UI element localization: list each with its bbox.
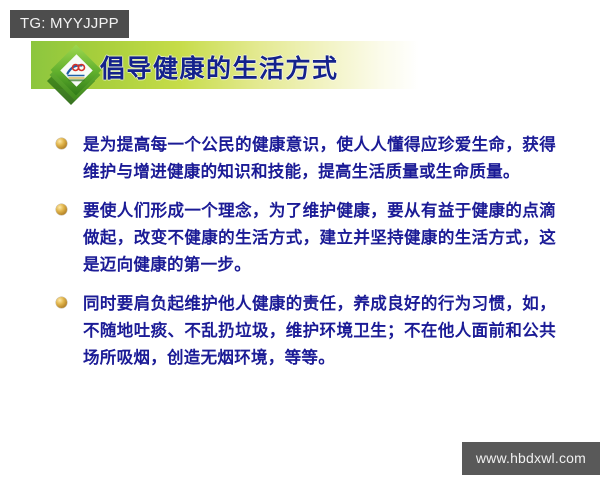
list-item-text: 是为提高每一个公民的健康意识，使人人懂得应珍爱生命，获得维护与增进健康的知识和技… [83, 131, 556, 185]
slide-bullet-list: 是为提高每一个公民的健康意识，使人人懂得应珍爱生命，获得维护与增进健康的知识和技… [56, 131, 556, 383]
list-item: 是为提高每一个公民的健康意识，使人人懂得应珍爱生命，获得维护与增进健康的知识和技… [56, 131, 556, 185]
list-item: 要使人们形成一个理念，为了维护健康，要从有益于健康的点滴做起，改变不健康的生活方… [56, 197, 556, 278]
page-title: 倡导健康的生活方式 [100, 50, 339, 84]
presentation-slide: TG: MYYJJPP [0, 0, 600, 480]
green-diamond-emblem-logo [44, 40, 106, 110]
list-item: 同时要肩负起维护他人健康的责任，养成良好的行为习惯，如，不随地吐痰、不乱扔垃圾，… [56, 290, 556, 371]
list-item-text: 同时要肩负起维护他人健康的责任，养成良好的行为习惯，如，不随地吐痰、不乱扔垃圾，… [83, 290, 556, 371]
diamond-logo-icon [44, 40, 106, 110]
site-url-watermark: www.hbdxwl.com [462, 442, 600, 475]
bullet-marker-icon [56, 204, 67, 215]
bullet-marker-icon [56, 138, 67, 149]
bullet-marker-icon [56, 297, 67, 308]
list-item-text: 要使人们形成一个理念，为了维护健康，要从有益于健康的点滴做起，改变不健康的生活方… [83, 197, 556, 278]
source-tag-watermark: TG: MYYJJPP [10, 10, 129, 38]
